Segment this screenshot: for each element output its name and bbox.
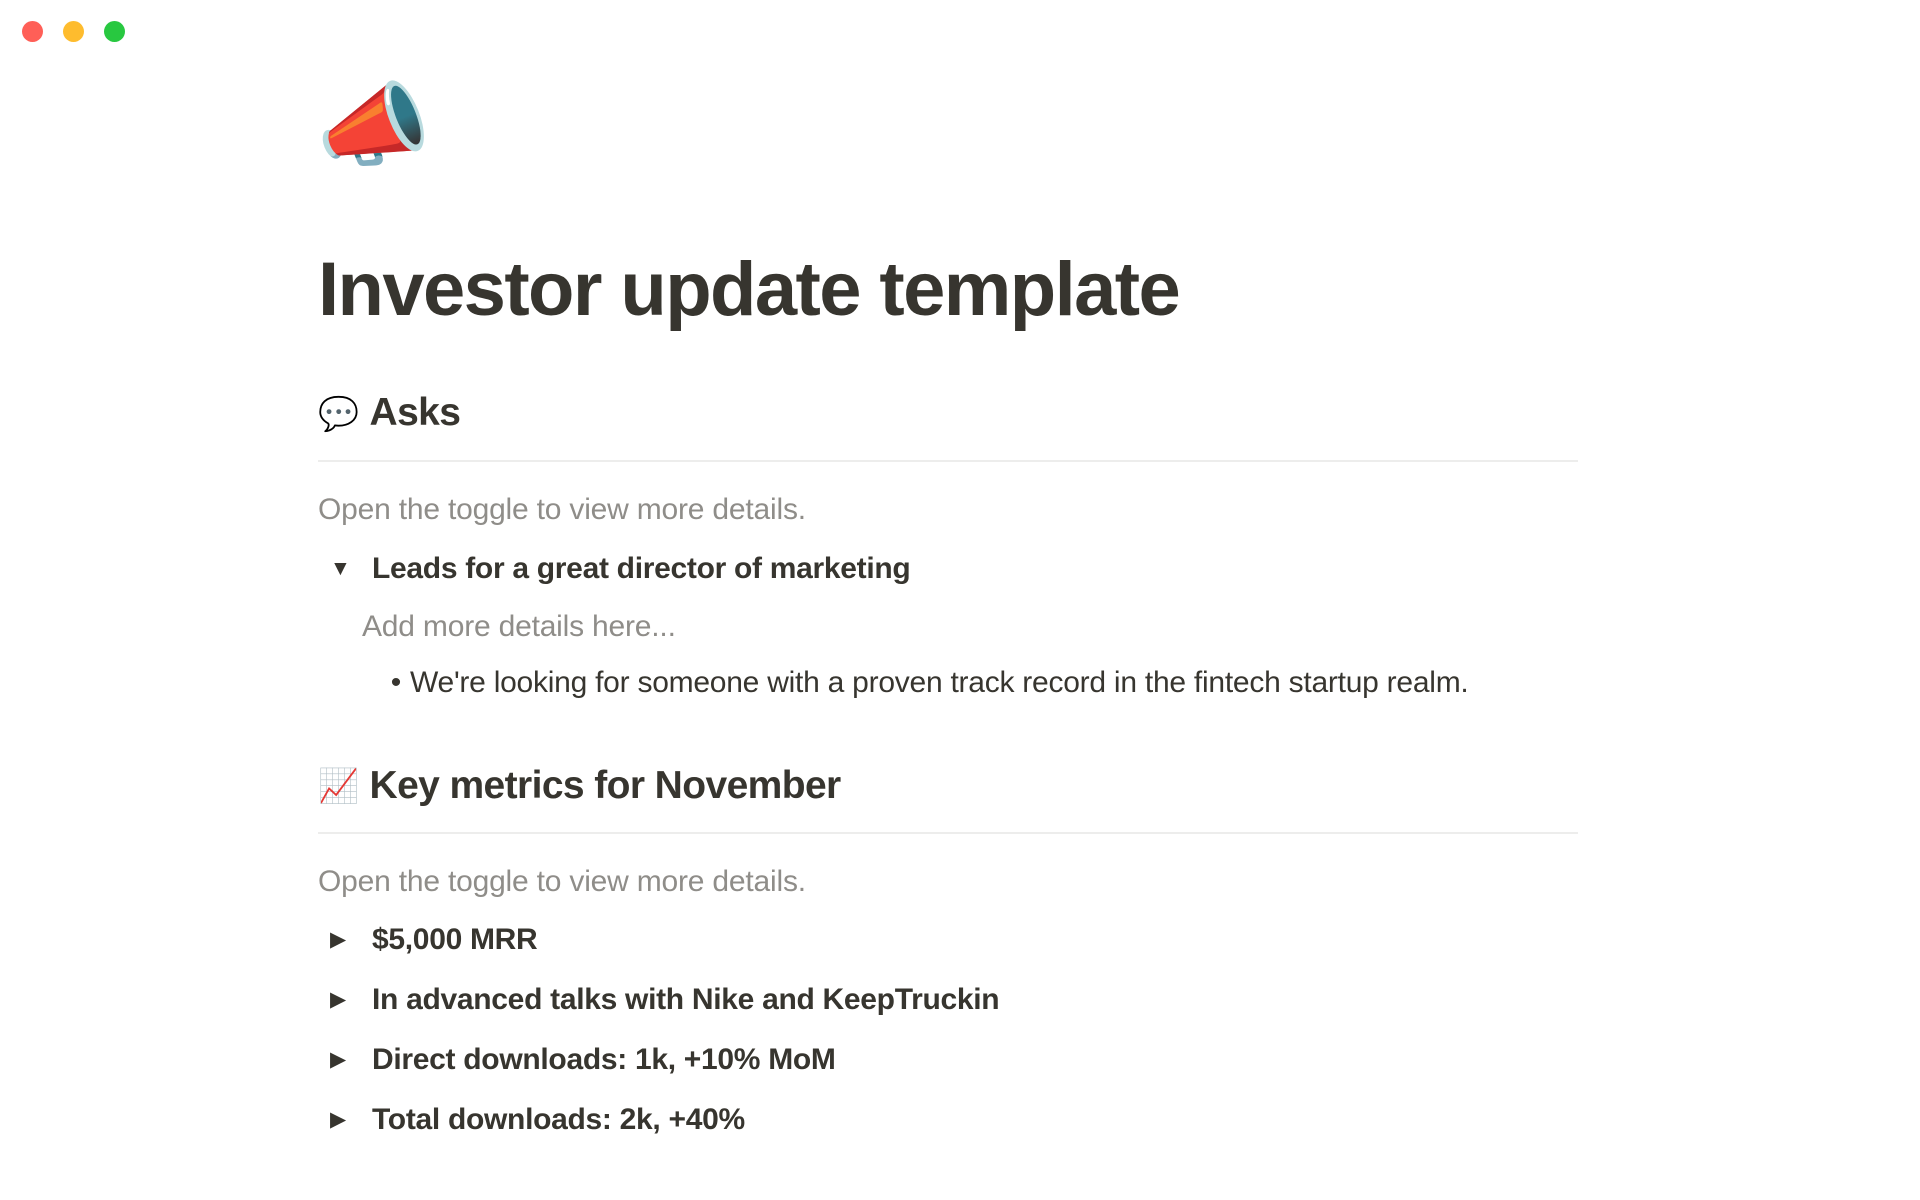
asks-toggle-list: ▼ Leads for a great director of marketin… <box>318 545 1880 703</box>
toggle-title: Leads for a great director of marketing <box>372 549 910 589</box>
page-title[interactable]: Investor update template <box>318 250 1880 330</box>
bullet-dot-icon: • <box>382 663 410 703</box>
section-heading-text: Asks <box>370 390 461 437</box>
app-window: 📣 Investor update template 💬 Asks Open t… <box>0 0 1920 1200</box>
section-key-metrics: 📈 Key metrics for November Open the togg… <box>318 763 1880 1144</box>
toggle-row-mrr[interactable]: ▶ $5,000 MRR <box>318 916 1880 964</box>
bullet-text: We're looking for someone with a proven … <box>410 663 1469 703</box>
document-body: 📣 Investor update template 💬 Asks Open t… <box>0 62 1920 1144</box>
toggle-title: $5,000 MRR <box>372 920 537 960</box>
metrics-helper-text: Open the toggle to view more details. <box>318 860 1880 904</box>
section-heading-text: Key metrics for November <box>370 763 841 810</box>
chevron-right-icon[interactable]: ▶ <box>330 920 360 960</box>
maximize-window-button[interactable] <box>104 21 125 42</box>
traffic-light-controls <box>22 21 125 42</box>
asks-helper-text: Open the toggle to view more details. <box>318 488 1880 532</box>
toggle-row-total-downloads[interactable]: ▶ Total downloads: 2k, +40% <box>318 1096 1880 1144</box>
section-asks: 💬 Asks Open the toggle to view more deta… <box>318 390 1880 703</box>
toggle-title: Total downloads: 2k, +40% <box>372 1100 745 1140</box>
section-divider <box>318 832 1578 834</box>
section-divider <box>318 460 1578 462</box>
chevron-right-icon[interactable]: ▶ <box>330 1040 360 1080</box>
chevron-down-icon[interactable]: ▼ <box>330 549 360 589</box>
toggle-row-talks[interactable]: ▶ In advanced talks with Nike and KeepTr… <box>318 976 1880 1024</box>
section-heading-asks[interactable]: 💬 Asks <box>318 390 1880 437</box>
close-window-button[interactable] <box>22 21 43 42</box>
child-placeholder-text[interactable]: Add more details here... <box>362 605 1880 649</box>
window-titlebar <box>0 0 1920 62</box>
minimize-window-button[interactable] <box>63 21 84 42</box>
toggle-title: Direct downloads: 1k, +10% MoM <box>372 1040 836 1080</box>
chevron-right-icon[interactable]: ▶ <box>330 1100 360 1140</box>
toggle-row[interactable]: ▼ Leads for a great director of marketin… <box>318 545 1880 593</box>
chevron-right-icon[interactable]: ▶ <box>330 980 360 1020</box>
toggle-children: Add more details here... • We're looking… <box>362 605 1880 703</box>
chart-increasing-emoji: 📈 <box>318 769 359 802</box>
list-item[interactable]: • We're looking for someone with a prove… <box>382 663 1880 703</box>
megaphone-emoji[interactable]: 📣 <box>316 80 1880 198</box>
section-heading-key-metrics[interactable]: 📈 Key metrics for November <box>318 763 1880 810</box>
toggle-row-direct-downloads[interactable]: ▶ Direct downloads: 1k, +10% MoM <box>318 1036 1880 1084</box>
bullet-list: • We're looking for someone with a prove… <box>382 663 1880 703</box>
speech-balloon-emoji: 💬 <box>318 397 359 430</box>
toggle-block-leads: ▼ Leads for a great director of marketin… <box>318 545 1880 703</box>
toggle-title: In advanced talks with Nike and KeepTruc… <box>372 980 999 1020</box>
metrics-toggle-list: ▶ $5,000 MRR ▶ In advanced talks with Ni… <box>318 916 1880 1144</box>
